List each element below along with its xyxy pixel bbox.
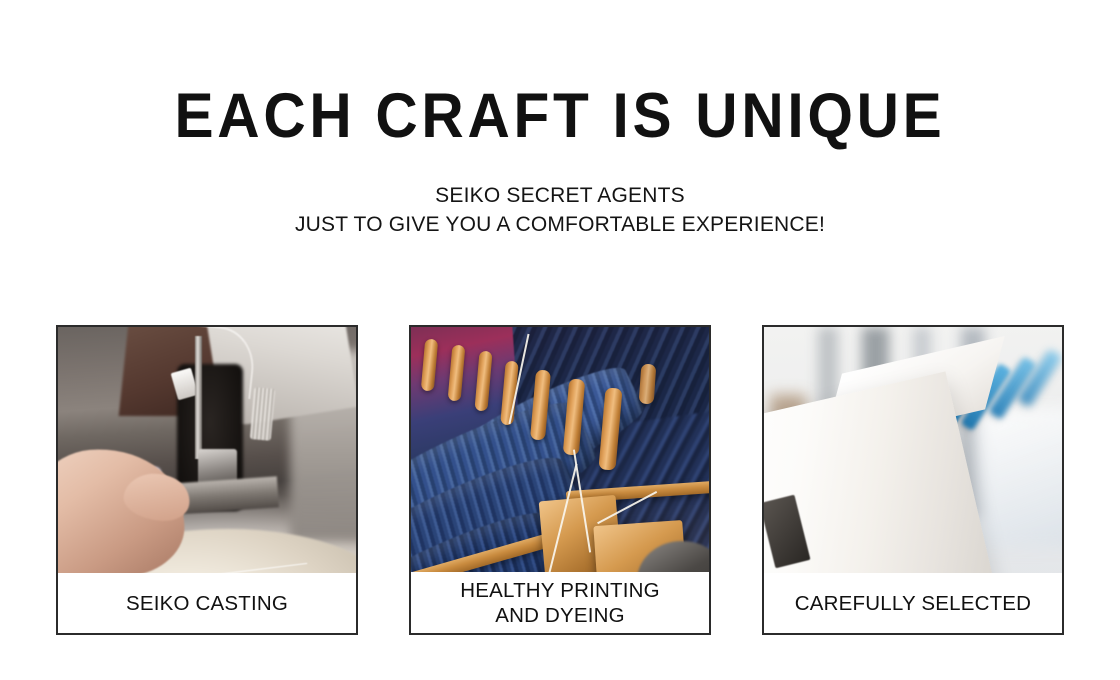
feature-card-caption: HEALTHY PRINTING AND DYEING — [411, 572, 709, 633]
feature-card-healthy-printing-and-dyeing[interactable]: HEALTHY PRINTING AND DYEING — [409, 325, 711, 635]
photo-detail-wooden-peg — [421, 339, 438, 392]
photo-detail-tension-knob — [249, 387, 274, 441]
photo-detail-needle-bar — [195, 336, 202, 458]
feature-card-carefully-selected[interactable]: CAREFULLY SELECTED — [762, 325, 1064, 635]
feature-card-caption-text: CAREFULLY SELECTED — [789, 591, 1037, 616]
photo-detail-background-soft-blur — [973, 407, 1062, 548]
feature-card-caption-line-2: AND DYEING — [495, 604, 625, 627]
subtitle-block: SEIKO SECRET AGENTS JUST TO GIVE YOU A C… — [0, 181, 1120, 239]
feature-card-caption-line-1: HEALTHY PRINTING — [460, 579, 660, 602]
feature-card-caption-text: SEIKO CASTING — [120, 591, 294, 616]
feature-card-grid: SEIKO CASTING — [56, 325, 1064, 635]
subtitle-line-1: SEIKO SECRET AGENTS — [0, 181, 1120, 210]
feature-card-seiko-casting[interactable]: SEIKO CASTING — [56, 325, 358, 635]
feature-card-caption: SEIKO CASTING — [58, 573, 356, 633]
feature-card-caption: CAREFULLY SELECTED — [764, 573, 1062, 633]
promo-banner: EACH CRAFT IS UNIQUE SEIKO SECRET AGENTS… — [0, 0, 1120, 680]
subtitle-line-2: JUST TO GIVE YOU A COMFORTABLE EXPERIENC… — [0, 210, 1120, 239]
photo-detail-wooden-peg — [474, 351, 492, 412]
page-title: EACH CRAFT IS UNIQUE — [39, 82, 1081, 150]
photo-detail-wooden-peg — [447, 345, 465, 402]
feature-card-caption-text: HEALTHY PRINTING AND DYEING — [454, 578, 666, 628]
